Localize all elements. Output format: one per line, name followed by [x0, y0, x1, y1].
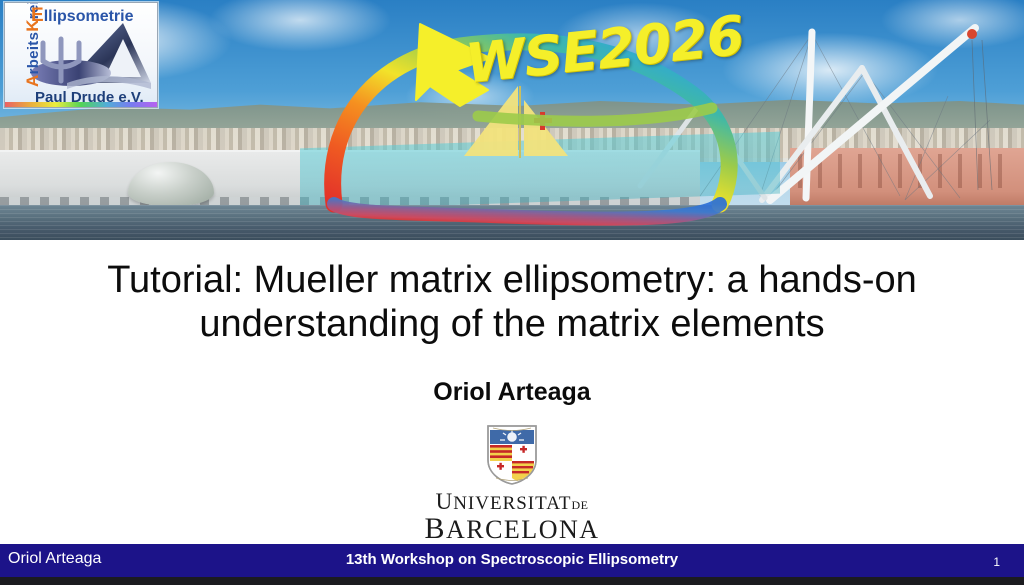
ak-ellipsometrie-text: Ellipsometrie — [31, 5, 134, 27]
author-name: Oriol Arteaga — [0, 378, 1024, 407]
ak-rainbow-bar — [5, 102, 157, 107]
affiliation-logo: UNIVERSITATDE BARCELONA — [0, 424, 1024, 544]
page-title: Tutorial: Mueller matrix ellipsometry: a… — [24, 258, 1000, 346]
university-shield-icon — [484, 424, 540, 486]
footer-event-name: 13th Workshop on Spectroscopic Ellipsome… — [0, 551, 1024, 568]
arbeitskreis-ellipsometrie-logo: ArbeitsKreis Ellipsometrie Paul Drude e.… — [4, 2, 158, 108]
slide-footer: Oriol Arteaga 13th Workshop on Spectrosc… — [0, 544, 1024, 577]
university-name: UNIVERSITATDE BARCELONA — [0, 490, 1024, 544]
university-line-1: UNIVERSITATDE — [0, 490, 1024, 513]
title-slide: WSE2026 — [0, 0, 1024, 585]
title-line-1: Tutorial: Mueller matrix ellipsometry: a… — [24, 258, 1000, 302]
header-banner-image: WSE2026 — [0, 0, 1024, 240]
university-line-2: BARCELONA — [0, 514, 1024, 544]
footer-page-number: 1 — [993, 555, 1000, 569]
bottom-edge-strip — [0, 577, 1024, 585]
title-line-2: understanding of the matrix elements — [24, 302, 1000, 346]
